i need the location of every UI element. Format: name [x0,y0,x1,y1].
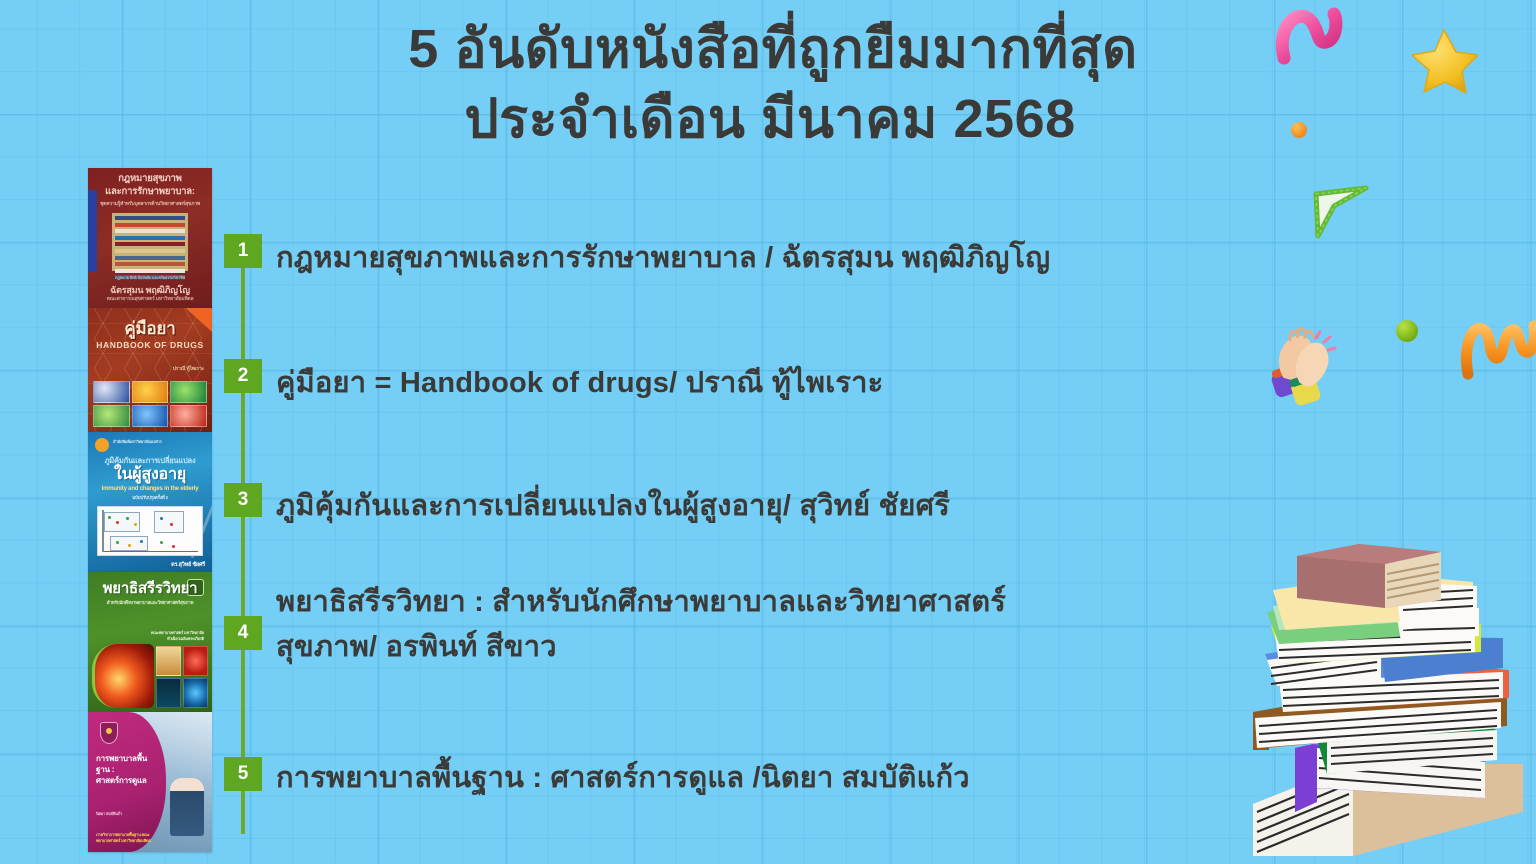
book-cover-3[interactable]: สำนักพิมพ์มหาวิทยาลัยนเรศวร ภูมิคุ้มกันแ… [88,432,212,572]
cover-3-publisher-logo-icon [95,438,109,452]
cover-1-author-affiliation: คณะสาธารณสุขศาสตร์ มหาวิทยาลัยมหิดล [88,297,212,303]
book-list-item-5[interactable]: การพยาบาลพื้นฐาน : ศาสตร์การดูแล /นิตยา … [276,756,970,801]
cover-1-photo [112,213,188,271]
book-cover-1[interactable]: กฎหมายสุขภาพ และการรักษาพยาบาล: ชุดความร… [88,168,212,308]
cover-1-author: ฉัตรสุมน พฤฒิภิญโญ [88,285,212,295]
cover-3-edition: ฉบับปรับปรุงครั้งที่ 2 [88,495,212,500]
book-list-item-3[interactable]: ภูมิคุ้มกันและการเปลี่ยนแปลงในผู้สูงอายุ… [276,484,950,529]
cover-3-title-line-2: ในผู้สูงอายุ [88,466,212,484]
cover-4-head-illustration [92,644,154,708]
cover-4-photo-cells [183,646,208,676]
cover-5-author: นิตยา สมบัติแก้ว [96,811,156,817]
cover-2-pill-photos [93,381,207,427]
book-list-item-2[interactable]: คู่มือยา = Handbook of drugs/ ปราณี ทู้ไ… [276,361,883,406]
cover-2-author: ปราณี ทู้ไพเราะ [160,367,204,373]
cover-4-photo-ecg [156,646,181,676]
book-cover-column: กฎหมายสุขภาพ และการรักษาพยาบาล: ชุดความร… [88,168,212,852]
rank-badge-4[interactable]: 4 [224,616,262,650]
book-cover-2[interactable]: คู่มือยา HANDBOOK OF DRUGS ปราณี ทู้ไพเร… [88,308,212,432]
cover-4-title: พยาธิสรีรวิทยา [88,580,212,597]
cover-2-title-thai: คู่มือยา [88,319,212,339]
book-cover-5[interactable]: การพยาบาลพื้นฐาน :ศาสตร์การดูแล นิตยา สม… [88,712,212,852]
book-list-item-1[interactable]: กฎหมายสุขภาพและการรักษาพยาบาล / ฉัตรสุมน… [276,236,1050,281]
cover-5-publisher: ภาควิชาการพยาบาลพื้นฐาน คณะพยาบาลศาสตร์ … [96,832,158,844]
cover-4-subtitle: สำหรับนักศึกษาพยาบาลและวิทยาศาสตร์สุขภาพ [88,600,212,605]
cover-3-author: ดร.สุวิทย์ ชัยศรี [145,562,205,568]
rank-badge-3[interactable]: 3 [224,483,262,517]
cover-2-title-english: HANDBOOK OF DRUGS [88,341,212,351]
cover-5-title: การพยาบาลพื้นฐาน :ศาสตร์การดูแล [96,754,160,786]
rank-badge-2[interactable]: 2 [224,359,262,393]
cover-3-diagram [97,506,203,556]
rank-badge-5[interactable]: 5 [224,757,262,791]
cover-4-photo-organ [156,678,181,708]
cover-1-caption: กฎหมาย สิทธิ ข้อบังคับ และจริยธรรมวิชาชี… [88,276,212,281]
cover-1-subtitle: ชุดความรู้สำหรับบุคลากรด้านวิทยาศาสตร์สุ… [88,202,212,208]
cover-1-title-line-2: และการรักษาพยาบาล: [88,187,212,198]
book-cover-4[interactable]: พยาธิสรีรวิทยา สำหรับนักศึกษาพยาบาลและวิ… [88,572,212,712]
cover-3-title-line-1: ภูมิคุ้มกันและการเปลี่ยนแปลง [88,457,212,466]
cover-1-title-line-1: กฎหมายสุขภาพ [88,174,212,185]
rank-timeline: 1 2 3 4 5 [224,168,264,828]
cover-4-publisher: คณะพยาบาลศาสตร์ มหาวิทยาลัยหัวเฉียวเฉลิม… [140,630,204,642]
cover-3-publisher: สำนักพิมพ์มหาวิทยาลัยนเรศวร [113,440,206,445]
book-list-item-4[interactable]: พยาธิสรีรวิทยา : สำหรับนักศึกษาพยาบาลและ… [276,580,1006,670]
cover-5-institution-seal-icon [100,722,118,744]
rank-badge-1[interactable]: 1 [224,234,262,268]
cover-4-photo-blood [183,678,208,708]
cover-3-title-english: Immunity and changes in the elderly [88,486,212,493]
cover-5-nurse-figure [170,778,204,836]
timeline-connector-line [241,234,245,834]
